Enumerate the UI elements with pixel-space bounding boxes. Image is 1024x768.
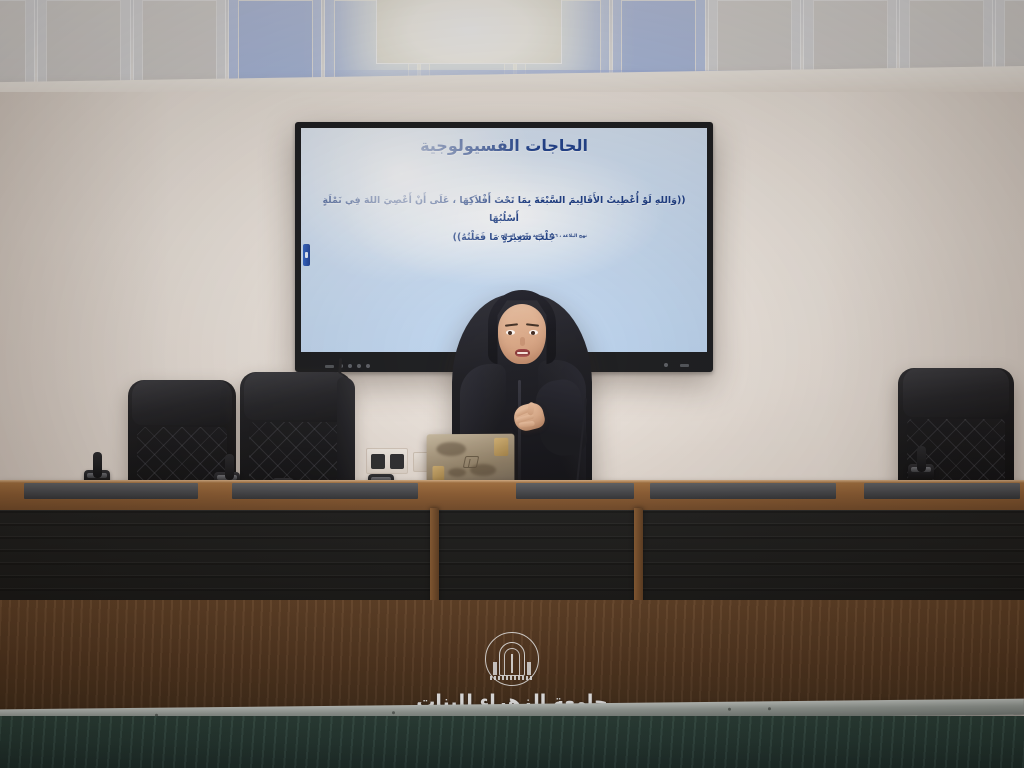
display-buttons-left[interactable] [325, 364, 370, 368]
microphone-stem[interactable] [225, 454, 234, 480]
socket-icon [371, 454, 385, 469]
eye-right [529, 330, 538, 335]
display-brand-mark [664, 363, 689, 367]
laptop-sticker [432, 466, 444, 481]
finger [518, 421, 534, 428]
input-source-icon[interactable] [366, 364, 370, 368]
slide-title: الحاجات الفسيولوجية [301, 136, 707, 155]
lid-marking [436, 442, 466, 456]
desk-inlay-panel [864, 483, 1020, 499]
screw-icon [768, 707, 771, 710]
desk-inlay-panel [24, 483, 198, 499]
laptop-lid [427, 434, 515, 487]
volume-up-icon[interactable] [357, 364, 361, 368]
laptop-sticker [494, 438, 508, 456]
volume-down-icon[interactable] [348, 364, 352, 368]
chair-side-wing [337, 377, 355, 493]
hp-logo-icon [463, 456, 480, 468]
screen-side-toolbar-icon[interactable] [303, 244, 310, 266]
microphone-stem[interactable] [917, 446, 926, 472]
eyebrow-left [505, 323, 518, 327]
desk-inlay-panel [650, 483, 836, 499]
socket-icon [390, 454, 404, 469]
desk-inlay-panel [232, 483, 418, 499]
speaker-grille-icon [680, 364, 689, 367]
eye-left [506, 330, 515, 335]
ir-sensor-icon [664, 363, 668, 367]
presenter-face [498, 304, 546, 364]
led-ceiling-light [376, 0, 562, 64]
chair-headrest [903, 368, 1010, 417]
thumb [527, 402, 535, 416]
microphone-stem[interactable] [93, 452, 102, 478]
lid-marking [448, 468, 466, 477]
chair-headrest [132, 380, 231, 425]
mouth [515, 349, 530, 357]
nose [520, 337, 525, 346]
desk-inlay-panel [516, 483, 634, 499]
wall-power-outlet[interactable] [366, 448, 408, 474]
slide-quote-line-1: ((وَاللهِ لَوْ أُعْطِيتُ الأَقَالِيمَ ال… [308, 192, 700, 229]
lecture-hall-photo: الحاجات الفسيولوجية ((وَاللهِ لَوْ أُعْط… [0, 0, 1024, 768]
chair-headrest [244, 372, 347, 420]
floor-surface [0, 716, 1024, 768]
power-button-icon[interactable] [325, 365, 334, 368]
slide-citation: نهج البلاغة ، ٣٤٦ ، طبعة صبحي الصالح . [497, 234, 587, 239]
eyebrow-right [526, 323, 539, 327]
wood-back-panel [0, 600, 1024, 710]
screw-icon [728, 708, 731, 711]
screw-icon [392, 711, 395, 714]
